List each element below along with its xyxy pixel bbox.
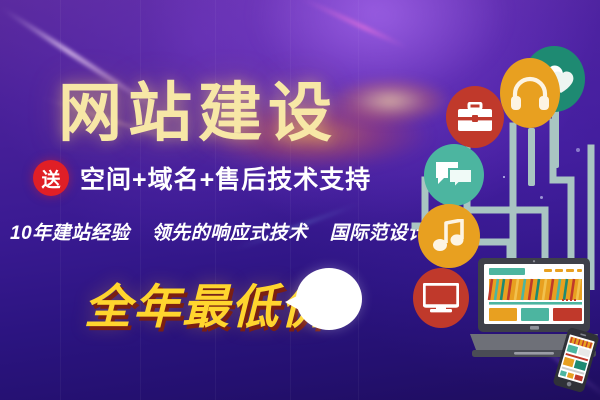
icon-stem (528, 128, 535, 186)
chat-icon (424, 144, 484, 206)
bg-grid-line (358, 0, 359, 400)
subtitle-text: 空间+域名+售后技术支持 (80, 160, 371, 196)
light-ray (299, 0, 409, 49)
monitor-icon (413, 268, 469, 328)
bg-grid-line (215, 0, 216, 400)
promo-banner: 网站建设 送 空间+域名+售后技术支持 10年建站经验 领先的响应式技术 国际范… (0, 0, 600, 400)
bg-grid-line (290, 0, 291, 400)
headphones-icon (500, 58, 560, 128)
subtitle-row: 送 空间+域名+售后技术支持 (33, 160, 371, 196)
feature-item-2: 领先的响应式技术 (152, 218, 308, 245)
bg-grid-line (60, 0, 61, 400)
icon-stem (552, 108, 559, 168)
speech-bubble (296, 268, 362, 330)
bg-grid-line (140, 0, 141, 400)
gift-badge: 送 (33, 160, 69, 196)
page-title: 网站建设 (58, 62, 338, 154)
feature-item-1: 10年建站经验 (10, 218, 130, 245)
briefcase-icon (446, 86, 504, 148)
